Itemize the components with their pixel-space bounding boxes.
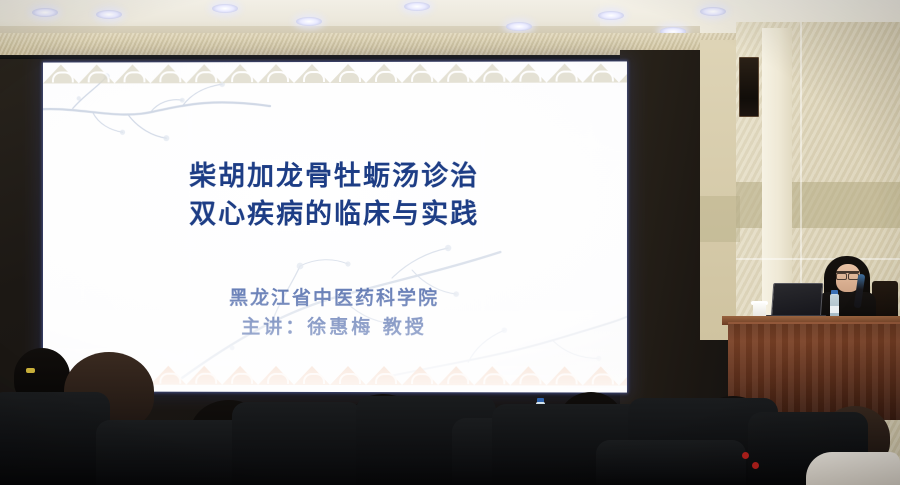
slide-title-line1: 柴胡加龙骨牡蛎汤诊治 <box>189 161 479 192</box>
slide-border-triangle <box>547 364 583 386</box>
wall-accent-band-mid <box>700 196 740 242</box>
slide-border-triangle <box>43 62 79 86</box>
audience-seat-1 <box>0 392 110 485</box>
slide-border-triangle <box>474 62 510 86</box>
slide-border-triangle <box>438 62 474 86</box>
audience-seat-3 <box>232 402 362 485</box>
slide-border-triangle <box>474 364 510 386</box>
downlight-5 <box>404 2 430 11</box>
slide-border-triangle <box>79 62 115 86</box>
slide-border-top <box>43 61 627 86</box>
slide-subtitle-line1: 黑龙江省中医药科学院 <box>229 287 439 309</box>
slide-border-triangle <box>366 364 402 386</box>
audience-seat-8 <box>596 440 746 485</box>
projection-screen-slide: 柴胡加龙骨牡蛎汤诊治 双心疾病的临床与实践 黑龙江省中医药科学院 主讲：徐惠梅 … <box>43 61 627 392</box>
slide-border-triangle <box>547 62 583 86</box>
slide-border-triangle <box>619 61 627 85</box>
downlight-6 <box>506 22 532 31</box>
slide-border-triangle <box>294 62 330 86</box>
slide-border-triangle <box>438 364 474 386</box>
slide-border-triangle <box>186 62 222 86</box>
slide-border-triangle <box>510 62 546 86</box>
slide-title-line2: 双心疾病的临床与实践 <box>189 199 479 230</box>
audience-seat-2 <box>96 420 246 485</box>
slide-border-triangle <box>150 364 186 386</box>
slide-border-triangle <box>330 62 366 86</box>
downlight-3 <box>212 4 238 13</box>
water-bottle-label <box>830 306 839 313</box>
wall-accent-band <box>736 182 900 228</box>
slide-border-triangle <box>583 61 619 85</box>
slide-border-triangle <box>294 364 330 386</box>
downlight-1 <box>32 8 58 17</box>
downlight-7 <box>598 11 624 20</box>
gold-hair-pin-icon <box>26 368 35 373</box>
slide-border-triangle <box>258 364 294 386</box>
slide-border-triangle <box>186 364 222 386</box>
slide-border-triangle <box>115 62 151 86</box>
lecture-hall-photo: 柴胡加龙骨牡蛎汤诊治 双心疾病的临床与实践 黑龙江省中医药科学院 主讲：徐惠梅 … <box>0 0 900 485</box>
slide-border-triangle <box>402 364 438 386</box>
wall-speaker-icon <box>739 57 759 117</box>
slide-subtitle-line2: 主讲：徐惠梅 教授 <box>241 315 427 337</box>
downlight-2 <box>96 10 122 19</box>
downlight-9 <box>700 7 726 16</box>
slide-border-triangle <box>510 364 546 386</box>
slide-border-triangle <box>150 62 186 86</box>
wall-seam-horizontal <box>736 258 900 260</box>
eyeglasses-icon <box>836 271 859 278</box>
red-hair-clip-icon-2 <box>752 462 759 469</box>
slide-title: 柴胡加龙骨牡蛎汤诊治 双心疾病的临床与实践 <box>43 158 627 235</box>
slide-border-triangle <box>619 364 627 386</box>
red-hair-clip-icon <box>742 452 749 459</box>
slide-border-triangle <box>330 364 366 386</box>
slide-subtitle: 黑龙江省中医药科学院 主讲：徐惠梅 教授 <box>43 284 627 342</box>
slide-border-triangle <box>366 62 402 86</box>
slide-border-triangle <box>222 62 258 86</box>
slide-border-triangle <box>222 364 258 386</box>
slide-border-triangle <box>402 62 438 86</box>
audience-white-shirt-attendee <box>806 452 900 485</box>
downlight-4 <box>296 17 322 26</box>
slide-border-triangle <box>583 364 619 386</box>
slide-border-triangle <box>258 62 294 86</box>
